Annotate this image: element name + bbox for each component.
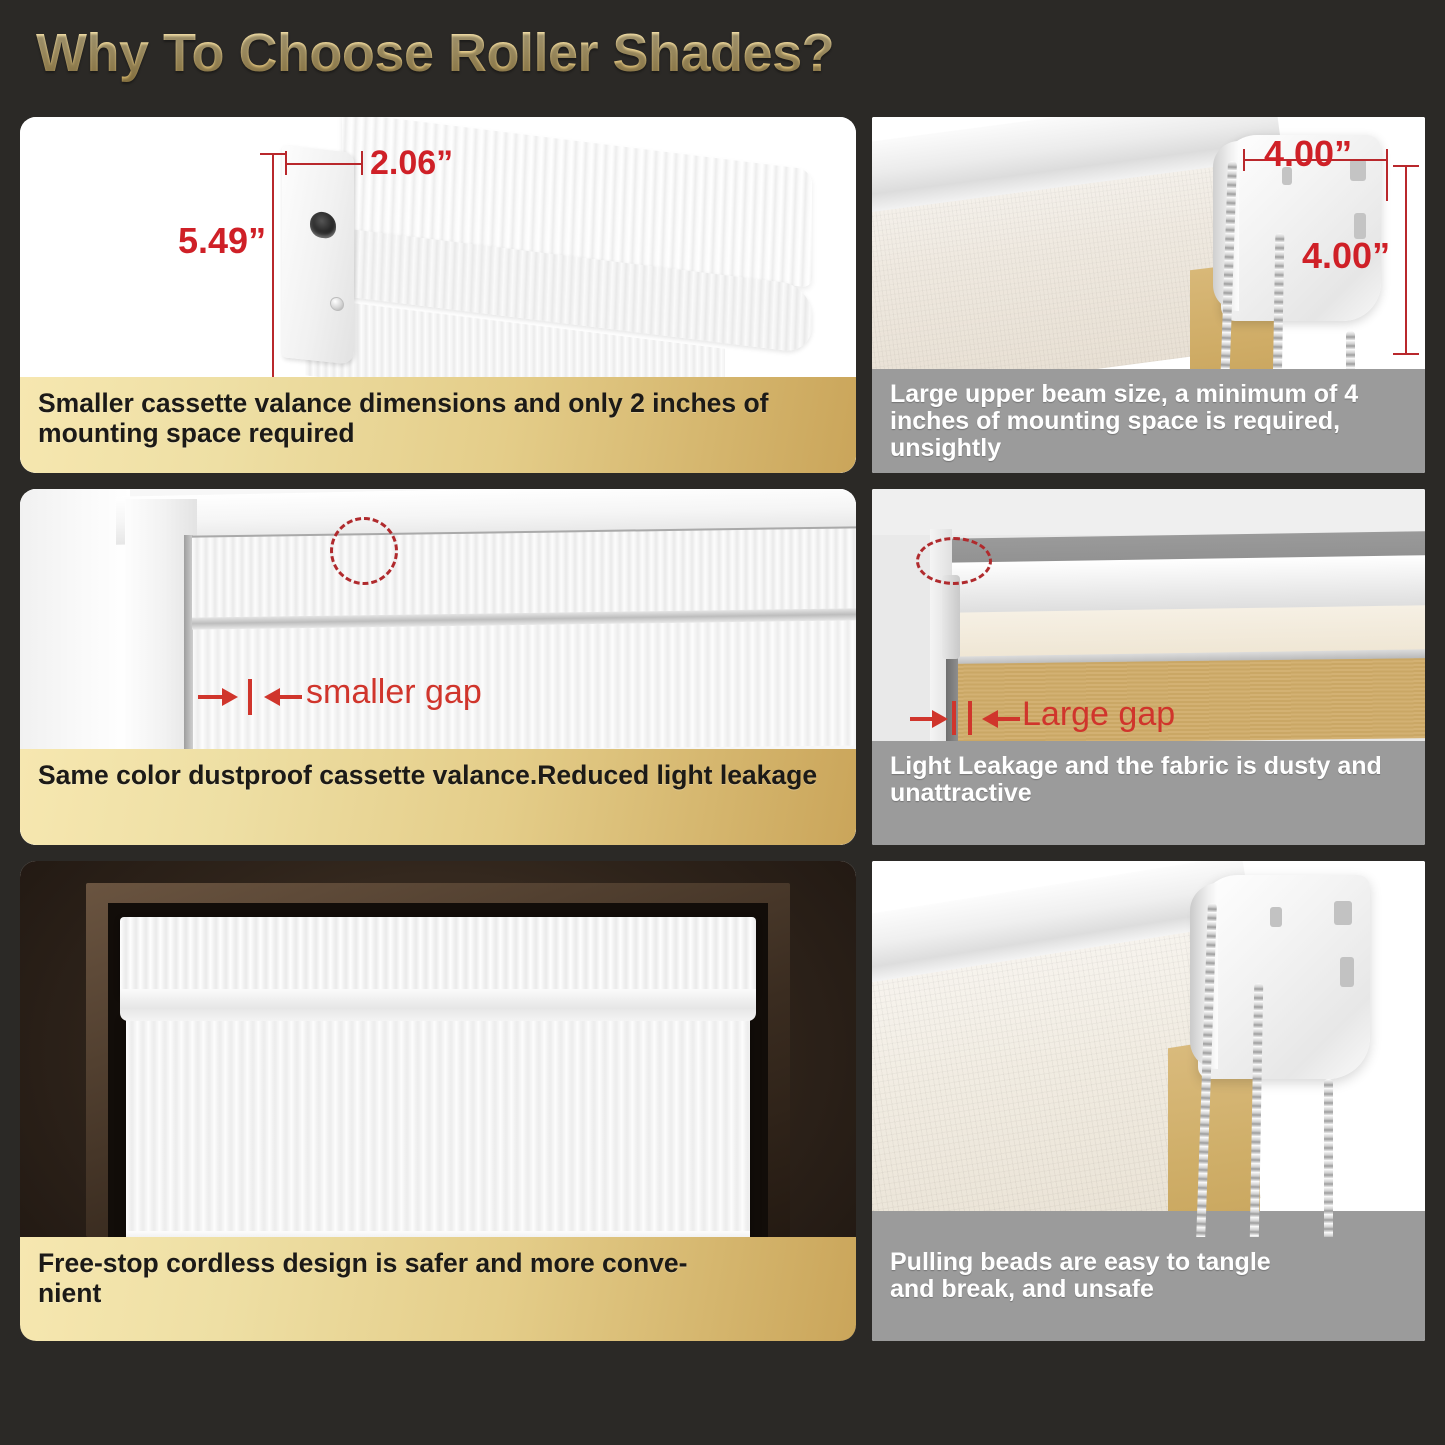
beam-width-dimension-label: 4.00” — [1264, 133, 1352, 175]
panel-free-stop-cordless: Free-stop cordless design is safer and m… — [20, 861, 856, 1341]
bead-chain[interactable] — [1324, 1079, 1333, 1241]
caption-free-stop-cordless: Free-stop cordless design is safer and m… — [20, 1237, 856, 1341]
panel-light-leakage: Large gap Light Leakage and the fabric i… — [872, 489, 1425, 845]
beam-height-dimension-label: 4.00” — [1302, 235, 1390, 277]
caption-pulling-beads-hazard: Pulling beads are easy to tangle and bre… — [872, 1237, 1425, 1341]
gap-arrow-left-icon — [264, 688, 280, 706]
gap-arrow-left-icon — [982, 710, 998, 728]
width-dimension-label: 2.06” — [370, 144, 453, 183]
panel-pulling-beads-hazard: Pulling beads are easy to tangle and bre… — [872, 861, 1425, 1341]
beam-height-dimension-line — [1405, 165, 1407, 355]
seal-highlight-circle — [330, 517, 398, 585]
gap-arrow-right-icon — [932, 710, 948, 728]
caption-large-upper-beam: Large upper beam size, a minimum of 4 in… — [872, 369, 1425, 473]
caption-line-1: Pulling beads are easy to tangle — [890, 1248, 1271, 1276]
caption-cassette-valance-dimensions: Smaller cassette valance dimensions and … — [20, 377, 856, 473]
height-dimension-label: 5.49” — [178, 220, 266, 262]
large-gap-label: Large gap — [1022, 695, 1175, 734]
width-dimension-line — [285, 163, 363, 165]
caption-line-1: Free-stop cordless design is safer and m… — [38, 1248, 687, 1278]
gap-arrow-right-icon — [222, 688, 238, 706]
panel-dustproof-cassette-valance: smaller gap Same color dustproof cassett… — [20, 489, 856, 845]
caption-light-leakage: Light Leakage and the fabric is dusty an… — [872, 741, 1425, 845]
caption-line-2: nient — [38, 1278, 101, 1308]
gap-highlight-circle — [916, 537, 992, 585]
smaller-gap-label: smaller gap — [306, 673, 482, 712]
panel-cassette-valance-dimensions: 5.49” 2.06” Smaller cassette valance dim… — [20, 117, 856, 473]
caption-dustproof-cassette-valance: Same color dustproof cassette valance.Re… — [20, 749, 856, 845]
comparison-grid: 5.49” 2.06” Smaller cassette valance dim… — [0, 0, 1445, 1445]
panel-large-upper-beam: 4.00” 4.00” Large upper beam size, a min… — [872, 117, 1425, 473]
caption-line-2: and break, and unsafe — [890, 1275, 1154, 1303]
infographic-page: Why To Choose Roller Shades? 5.49” — [0, 0, 1445, 1445]
